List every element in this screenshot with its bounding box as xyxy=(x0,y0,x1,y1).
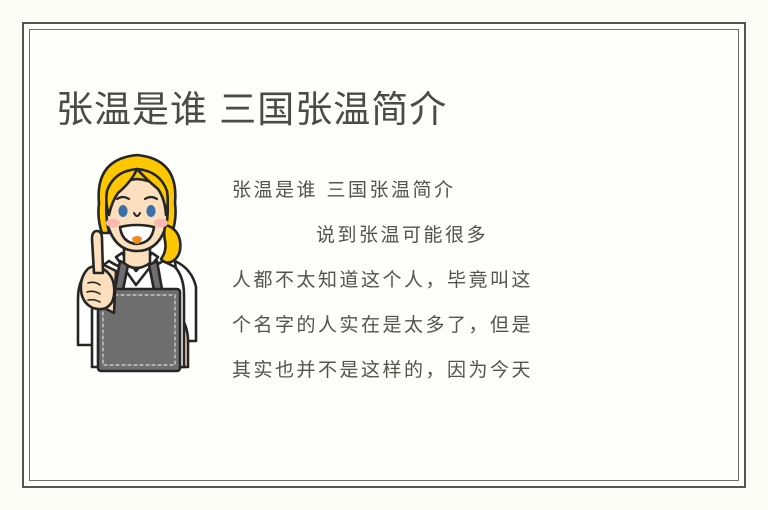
cartoon-woman-pointing-up-icon xyxy=(62,145,212,373)
article-line: 人都不太知道这个人，毕竟叫这 xyxy=(232,258,652,303)
page-title: 张温是谁 三国张温简介 xyxy=(56,87,447,133)
article-page: 张温是谁 三国张温简介 xyxy=(0,0,768,510)
article-line: 张温是谁 三国张温简介 xyxy=(232,168,652,213)
article-line: 说到张温可能很多 xyxy=(232,213,652,258)
article-line: 个名字的人实在是太多了，但是 xyxy=(232,303,652,348)
article-body: 张温是谁 三国张温简介 说到张温可能很多 人都不太知道这个人，毕竟叫这 个名字的… xyxy=(232,168,652,393)
article-line: 其实也并不是这样的，因为今天 xyxy=(232,348,652,393)
